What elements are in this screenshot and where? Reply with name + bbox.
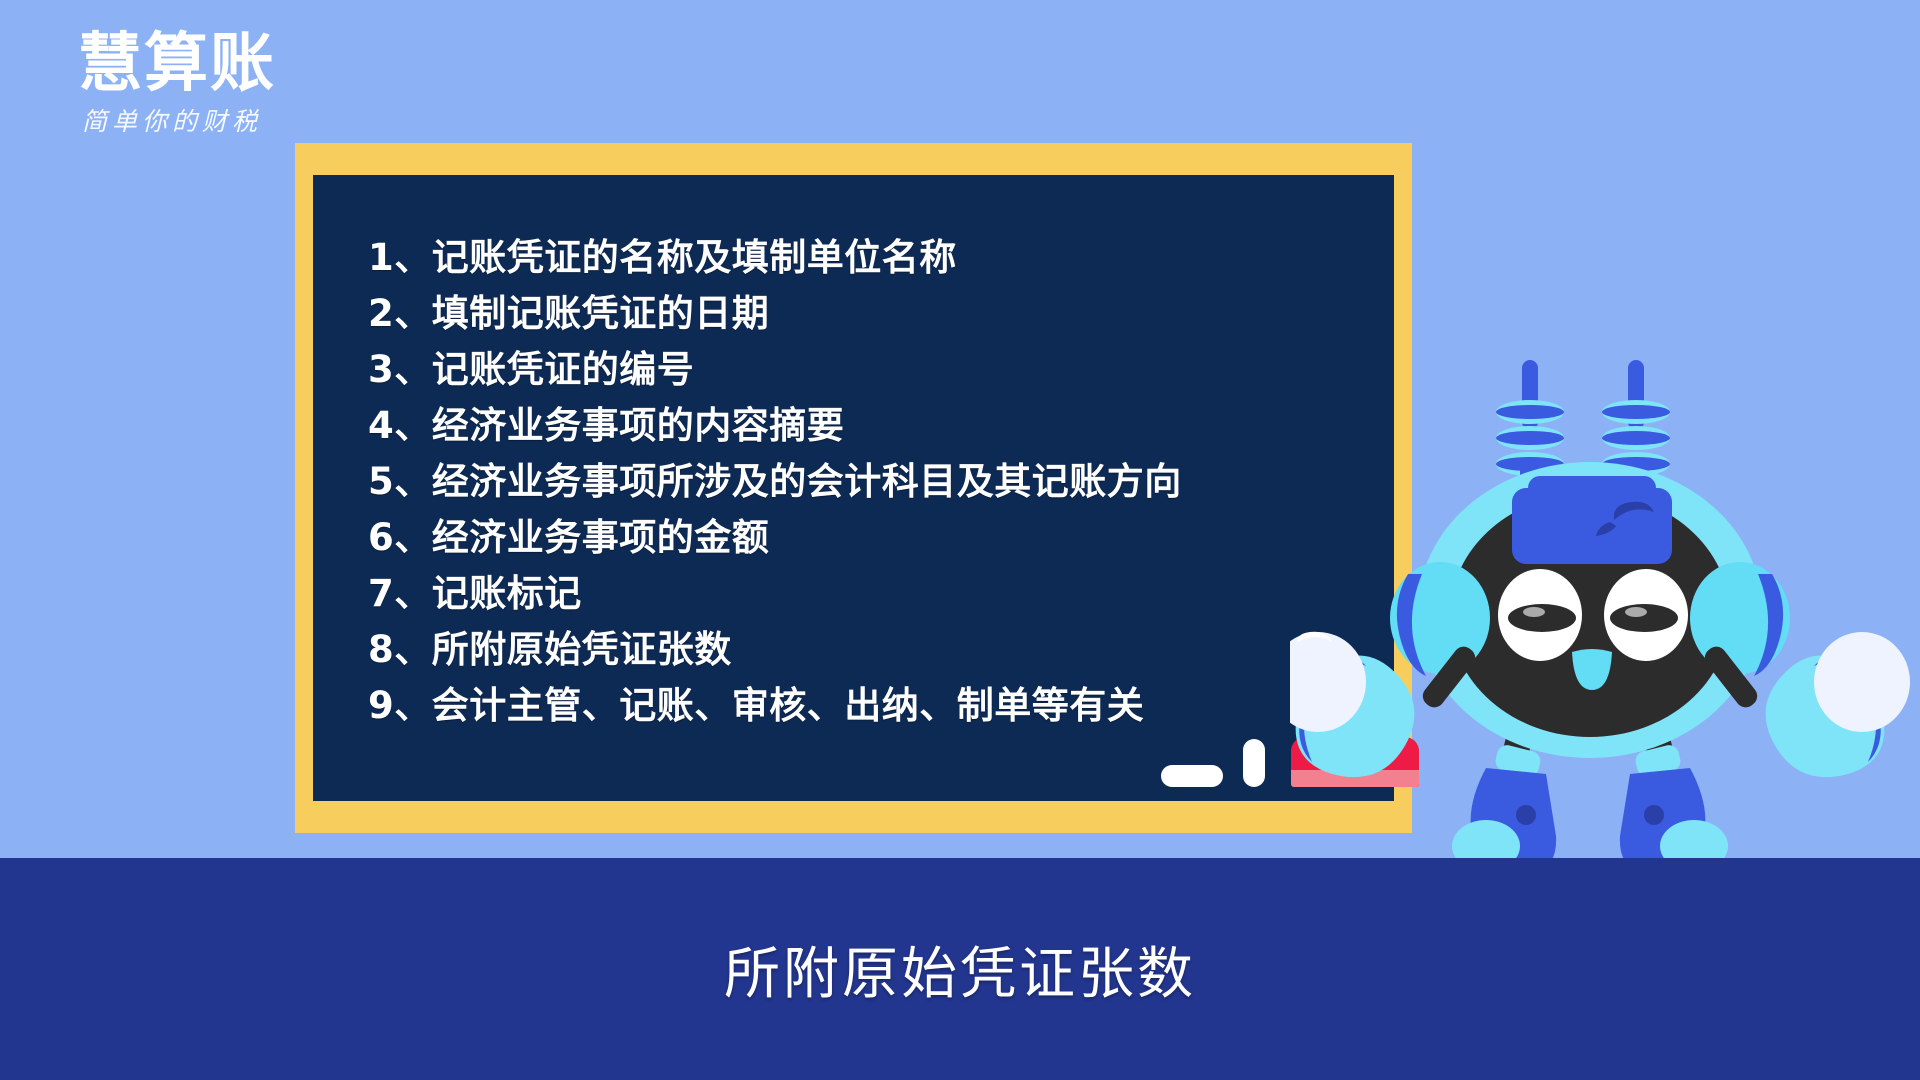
robot-left-arm (1290, 562, 1490, 777)
board-line-8: 8、所附原始凭证张数 (368, 622, 1374, 678)
board-line-6: 6、经济业务事项的金额 (368, 510, 1374, 566)
board-line-1: 1、记账凭证的名称及填制单位名称 (368, 230, 1374, 286)
brand-logo: 慧算账 简单你的财税 (78, 28, 338, 158)
brand-tagline: 简单你的财税 (82, 102, 338, 138)
slide-canvas: 慧算账 简单你的财税 1、记账凭证的名称及填制单位名称 2、填制记账凭证的日期 … (0, 0, 1920, 1080)
blackboard-content-list: 1、记账凭证的名称及填制单位名称 2、填制记账凭证的日期 3、记账凭证的编号 4… (368, 230, 1374, 781)
board-line-3: 3、记账凭证的编号 (368, 342, 1374, 398)
brand-wordmark: 慧算账 (78, 28, 338, 100)
caption-text: 所附原始凭证张数 (724, 929, 1196, 1010)
board-line-9: 9、会计主管、记账、审核、出纳、制单等有关 (368, 678, 1374, 734)
board-line-7: 7、记账标记 (368, 566, 1374, 622)
board-line-5: 5、经济业务事项所涉及的会计科目及其记账方向 (368, 454, 1374, 510)
caption-bar: 所附原始凭证张数 (0, 858, 1920, 1080)
blackboard-frame: 1、记账凭证的名称及填制单位名称 2、填制记账凭证的日期 3、记账凭证的编号 4… (295, 143, 1412, 833)
board-line-4: 4、经济业务事项的内容摘要 (368, 398, 1374, 454)
board-line-2: 2、填制记账凭证的日期 (368, 286, 1374, 342)
robot-right-arm (1690, 562, 1910, 777)
robot-mascot (1290, 360, 1920, 880)
blackboard-surface: 1、记账凭证的名称及填制单位名称 2、填制记账凭证的日期 3、记账凭证的编号 4… (313, 175, 1394, 801)
